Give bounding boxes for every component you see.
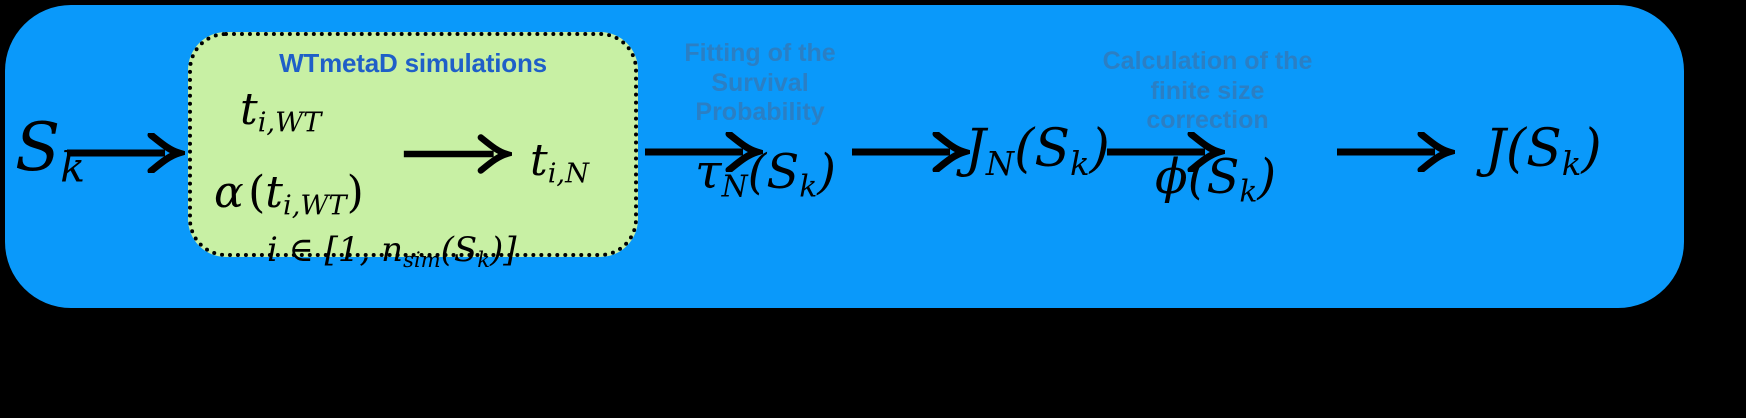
arrow-input-to-simulations xyxy=(65,133,185,173)
arrow-fitting-to-jn xyxy=(850,132,970,172)
input-variable-base: S xyxy=(15,109,60,186)
arrow-correction-to-final xyxy=(1335,132,1455,172)
simulation-time-wt: ti,WT xyxy=(240,88,321,132)
finite-size-correction-arg: (S xyxy=(1188,149,1240,205)
acceleration-factor-argument: t xyxy=(265,167,283,218)
finite-size-correction-close: ) xyxy=(1257,149,1276,205)
wtmetad-simulations-box: WTmetaD simulations ti,WT α (ti,WT) ti,N xyxy=(188,32,638,257)
mean-escape-time: τN(Sk) xyxy=(695,148,836,196)
mean-escape-time-arg: (S xyxy=(748,144,800,200)
simulation-time-unbiased-subscript: i,N xyxy=(548,159,589,190)
arrow-simulations-internal xyxy=(402,134,512,174)
acceleration-factor: α (ti,WT) xyxy=(214,171,364,215)
simulation-index-range-tail-sub: k xyxy=(477,247,490,272)
final-rate-close: ) xyxy=(1581,119,1601,179)
caption-finite-size-correction: Calculation of the finite size correctio… xyxy=(1090,47,1325,136)
finite-size-correction: ϕ(Sk) xyxy=(1155,153,1276,201)
finite-size-rate-subscript: N xyxy=(986,145,1014,183)
figure-canvas: Sk WTmetaD simulations ti,WT α (ti,WT) xyxy=(0,0,1746,418)
finite-size-rate-arg-subscript: k xyxy=(1070,145,1090,183)
simulation-index-range: i ∈ [1, nsim(Sk)] xyxy=(267,233,517,267)
wtmetad-simulations-title: WTmetaD simulations xyxy=(192,48,634,79)
finite-size-rate: JN(Sk) xyxy=(965,123,1110,175)
final-rate-arg: (S xyxy=(1506,119,1562,179)
mean-escape-time-arg-subscript: k xyxy=(799,169,817,204)
acceleration-factor-symbol: α xyxy=(214,167,244,218)
simulation-time-unbiased: ti,N xyxy=(530,139,589,183)
final-rate-arg-subscript: k xyxy=(1562,145,1582,183)
mean-escape-time-subscript: N xyxy=(722,169,748,204)
acceleration-factor-argument-subscript: i,WT xyxy=(283,191,347,222)
simulation-time-wt-base: t xyxy=(240,84,258,135)
mean-escape-time-symbol: τ xyxy=(695,144,722,200)
simulation-index-range-sub: sim xyxy=(403,247,441,272)
finite-size-rate-arg: (S xyxy=(1014,119,1070,179)
simulation-index-range-head: i ∈ [1, n xyxy=(267,230,403,270)
final-rate-symbol: J xyxy=(1485,119,1506,179)
final-rate: J(Sk) xyxy=(1485,123,1602,175)
simulation-time-unbiased-base: t xyxy=(530,135,548,186)
finite-size-rate-symbol: J xyxy=(965,119,986,179)
flow-diagram-panel: Sk WTmetaD simulations ti,WT α (ti,WT) xyxy=(5,5,1684,308)
mean-escape-time-close: ) xyxy=(817,144,836,200)
simulation-time-wt-subscript: i,WT xyxy=(258,108,322,139)
caption-fitting-survival-probability: Fitting of the Survival Probability xyxy=(665,39,855,128)
simulation-index-range-close: )] xyxy=(490,230,517,270)
finite-size-correction-symbol: ϕ xyxy=(1155,149,1188,205)
finite-size-correction-arg-subscript: k xyxy=(1239,174,1257,209)
simulation-index-range-tail: (S xyxy=(441,230,478,270)
